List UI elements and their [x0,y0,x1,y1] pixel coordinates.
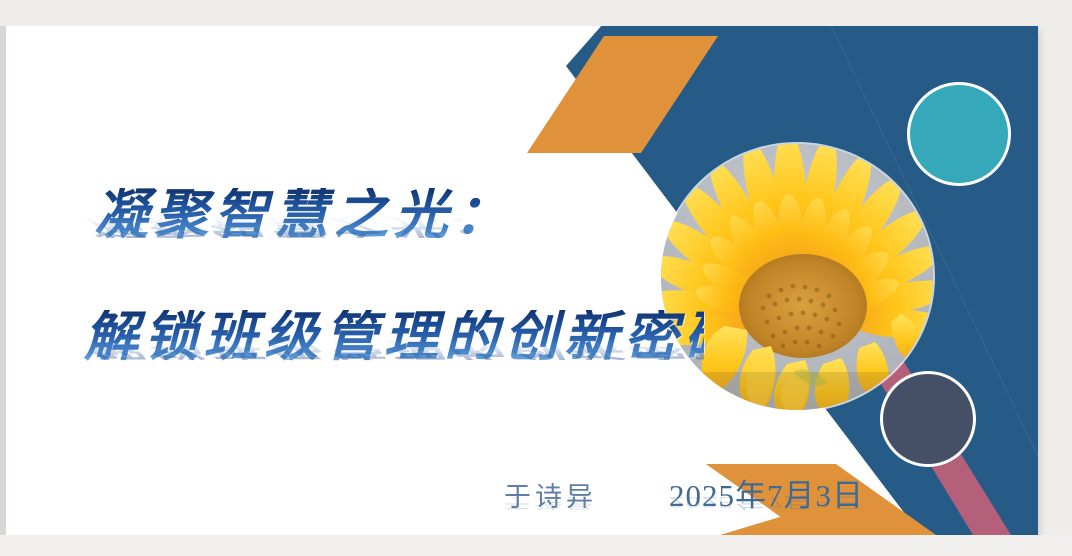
slide-title-block: 凝聚智慧之光： 凝聚智慧之光： 解锁班级管理的创新密码 解锁班级管理的创新密码 [84,188,704,414]
author-name: 于诗异 于诗异 [504,475,597,514]
byline-row: 于诗异 于诗异 2025年7月3日 2025年7月3日 [504,470,864,515]
slide-frame: 凝聚智慧之光： 凝聚智慧之光： 解锁班级管理的创新密码 解锁班级管理的创新密码 … [0,0,1072,556]
presentation-date-text: 2025年7月3日 [669,478,864,513]
left-margin-band [0,26,6,535]
title-line-1: 凝聚智慧之光： [94,188,704,242]
slide-canvas: 凝聚智慧之光： 凝聚智慧之光： 解锁班级管理的创新密码 解锁班级管理的创新密码 … [6,26,1038,535]
bottom-margin-band [0,535,1072,556]
top-margin-band [0,0,1072,26]
navy-circle [880,371,976,467]
presentation-date: 2025年7月3日 2025年7月3日 [669,470,864,515]
author-name-text: 于诗异 [504,482,597,512]
title-line-2: 解锁班级管理的创新密码 [84,310,704,364]
